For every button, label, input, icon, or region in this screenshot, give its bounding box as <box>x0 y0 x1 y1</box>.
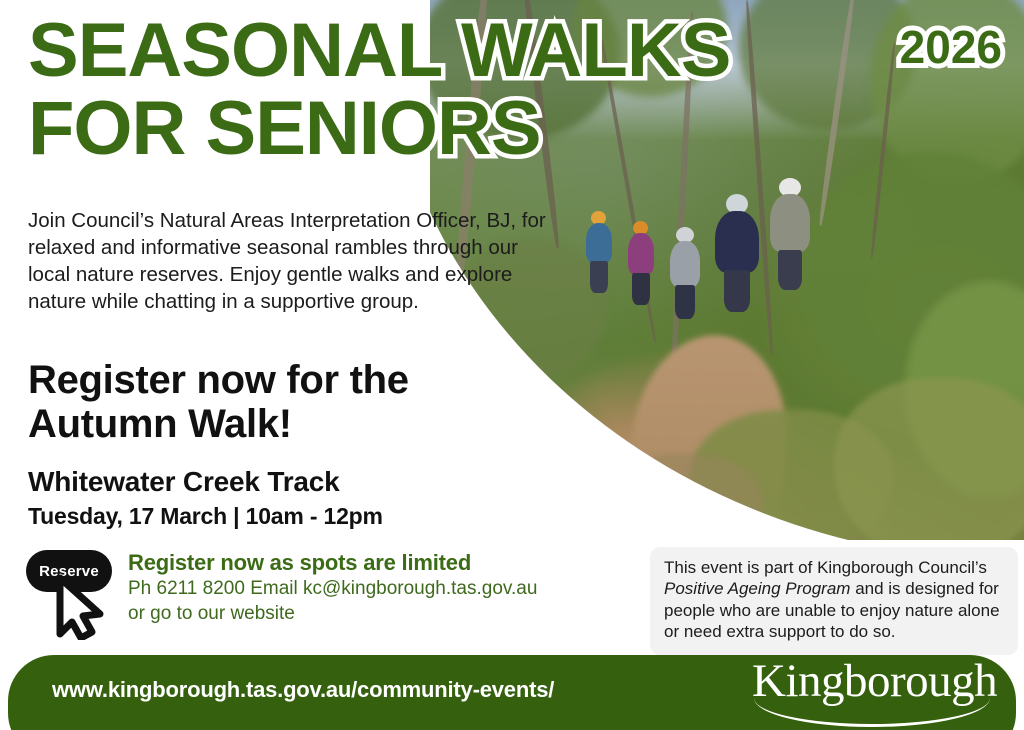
contact-block: Register now as spots are limited Ph 621… <box>128 550 598 626</box>
walker-figure <box>769 178 811 290</box>
contact-phone-email[interactable]: Ph 6211 8200 Email kc@kingborough.tas.go… <box>128 576 598 601</box>
intro-paragraph: Join Council’s Natural Areas Interpretat… <box>28 208 558 315</box>
register-heading: Register now for the Autumn Walk! <box>28 358 548 446</box>
headline-line-2: FOR SENIORS <box>28 92 1008 166</box>
footer-bar: www.kingborough.tas.gov.au/community-eve… <box>8 655 1016 730</box>
poster-canvas: SEASONAL WALKS FOR SENIORS 2026 Join Cou… <box>0 0 1024 730</box>
reserve-cursor-icon[interactable]: Reserve <box>24 548 124 640</box>
note-part-1: This event is part of Kingborough Counci… <box>664 558 987 577</box>
headline-line-1: SEASONAL WALKS <box>28 14 1008 88</box>
page-title: SEASONAL WALKS FOR SENIORS <box>28 14 1008 167</box>
kingborough-logo: Kingborough <box>752 658 992 722</box>
grass-tussock <box>834 378 1024 540</box>
program-note-text: This event is part of Kingborough Counci… <box>664 557 1004 643</box>
logo-swoosh <box>754 698 990 727</box>
track-name: Whitewater Creek Track <box>28 466 340 498</box>
event-datetime: Tuesday, 17 March | 10am - 12pm <box>28 503 383 530</box>
program-note-box: This event is part of Kingborough Counci… <box>650 547 1018 655</box>
note-emphasis: Positive Ageing Program <box>664 579 850 598</box>
contact-website-note: or go to our website <box>128 601 598 626</box>
footer-website-url[interactable]: www.kingborough.tas.gov.au/community-eve… <box>52 677 554 703</box>
walker-figure <box>668 227 702 319</box>
year-badge: 2026 <box>900 24 1002 70</box>
grass-tussock <box>608 454 762 540</box>
mouse-pointer-icon <box>24 548 124 640</box>
walker-figure <box>584 211 614 293</box>
contact-heading: Register now as spots are limited <box>128 550 598 576</box>
walker-figure <box>626 221 656 305</box>
walker-figure <box>715 194 759 312</box>
